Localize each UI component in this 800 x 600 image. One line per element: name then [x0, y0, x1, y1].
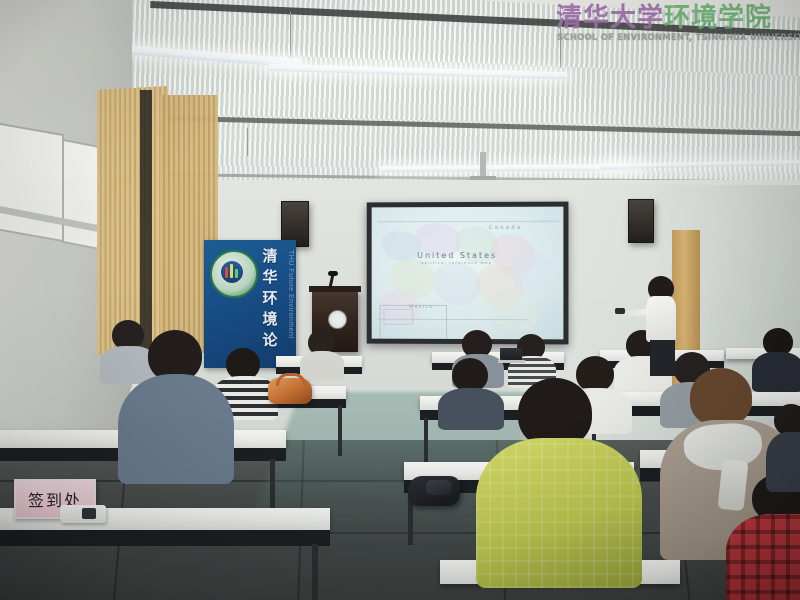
map-inset-shape — [384, 309, 414, 325]
bag-strap — [276, 373, 306, 386]
projection-screen: Canada United States political reference… — [367, 202, 569, 345]
orange-bag-on-desk — [268, 378, 312, 404]
backpack-flap — [426, 480, 452, 495]
wood-slat-column — [97, 86, 168, 358]
map-title: United States — [417, 251, 497, 260]
phone-screen — [82, 508, 96, 519]
microphone-head-icon — [328, 271, 338, 276]
classroom-photo: Canada United States political reference… — [0, 0, 800, 600]
light-suspension-wire — [247, 128, 248, 156]
banner-logo-icon — [210, 250, 258, 298]
desk-front — [0, 530, 330, 546]
lectern-top — [309, 286, 361, 292]
window — [0, 122, 64, 242]
presenter-pants — [650, 340, 675, 376]
projection-screen-surface: Canada United States political reference… — [372, 207, 564, 340]
banner-english-text: THU Future Environment — [282, 250, 294, 339]
column-dark-strip — [140, 90, 152, 358]
watermark-english: SCHOOL OF ENVIRONMENT, TSINGHUA UNIVERSI… — [557, 33, 800, 43]
watermark-chinese-part1: 清华大学 — [556, 3, 664, 33]
watermark-chinese-part2: 环境学院 — [664, 3, 772, 33]
map-region — [433, 263, 481, 305]
backpack-on-floor — [408, 476, 460, 506]
banner-logo-inner — [221, 261, 243, 283]
speaker-icon — [628, 199, 654, 243]
scarf-tail — [717, 459, 748, 511]
watermark: 清华大学环境学院 SCHOOL OF ENVIRONMENT, TSINGHUA… — [556, 4, 796, 46]
watermark-chinese: 清华大学环境学院 — [556, 4, 796, 32]
logo-bar — [225, 267, 228, 278]
map-subtitle: political reference map — [421, 261, 492, 265]
map-region — [491, 297, 539, 331]
white-phone-on-desk — [60, 505, 106, 523]
presenter-shirt — [646, 296, 676, 342]
remote-pointer-icon — [615, 308, 625, 314]
banner-chinese-text: 清华环境论 — [260, 246, 280, 351]
university-emblem-icon — [328, 310, 347, 329]
logo-bar — [235, 269, 238, 278]
logo-bar — [230, 264, 233, 278]
map-label-canada: Canada — [489, 225, 523, 231]
